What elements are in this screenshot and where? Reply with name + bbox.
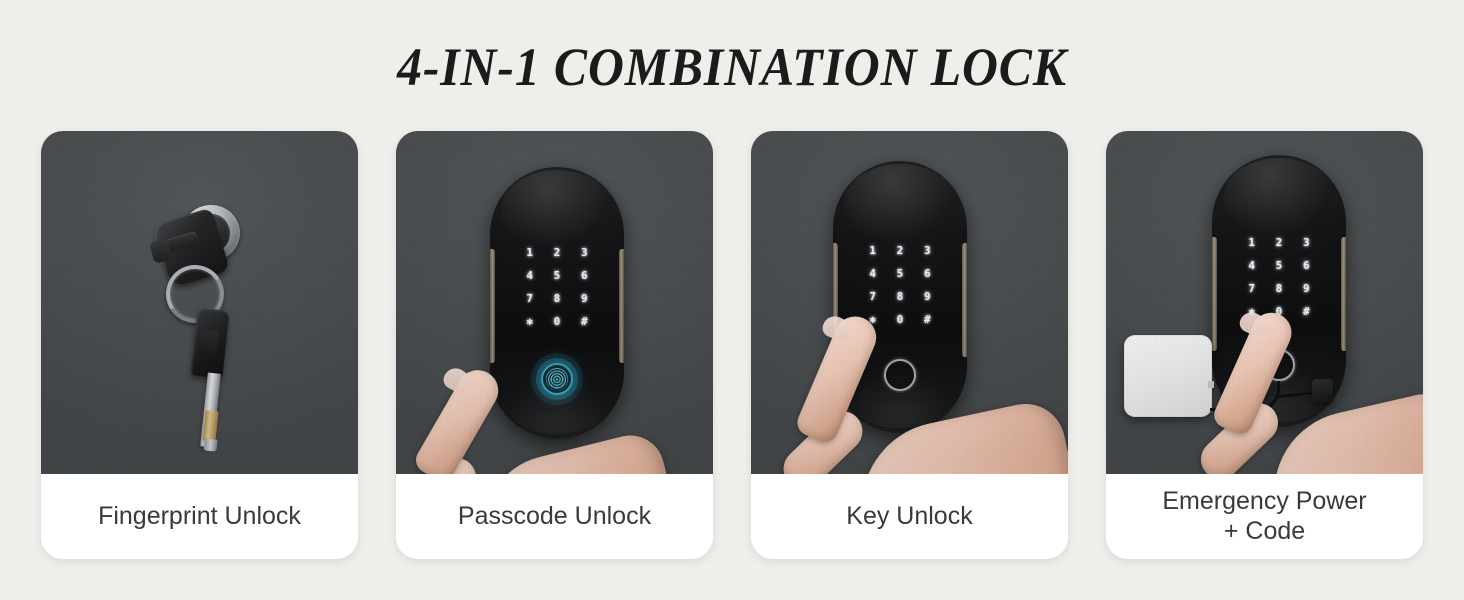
keypad-key-5[interactable]: 5 (543, 264, 570, 287)
keypad-key-0[interactable]: 0 (543, 310, 570, 333)
spare-key-head-icon (190, 308, 229, 379)
lock-keypad[interactable]: 1 2 3 4 5 6 7 8 9 ✱ 0 # (516, 241, 598, 333)
keypad-key-2[interactable]: 2 (543, 241, 570, 264)
keypad-key-3[interactable]: 3 (1293, 231, 1320, 254)
fingerprint-sensor-icon[interactable] (541, 363, 573, 395)
keypad-key-hash[interactable]: # (571, 310, 598, 333)
keypad-key-4[interactable]: 4 (516, 264, 543, 287)
feature-card-emergency-power-code[interactable]: 1 2 3 4 5 6 7 8 9 ✱ 0 # (1106, 131, 1423, 559)
card-photo-fingerprint-unlock (41, 131, 358, 474)
lock-keypad[interactable]: 1 2 3 4 5 6 7 8 9 ✱ 0 # (1238, 231, 1320, 323)
keypad-key-6[interactable]: 6 (1293, 254, 1320, 277)
keypad-key-3[interactable]: 3 (914, 239, 941, 262)
keypad-key-3[interactable]: 3 (571, 241, 598, 264)
keypad-key-2[interactable]: 2 (886, 239, 913, 262)
keypad-key-hash[interactable]: # (1293, 300, 1320, 323)
keypad-key-9[interactable]: 9 (571, 287, 598, 310)
keypad-key-2[interactable]: 2 (1265, 231, 1292, 254)
power-cable (1210, 381, 1280, 411)
card-photo-key-unlock: 1 2 3 4 5 6 7 8 9 ✱ 0 # (751, 131, 1068, 474)
smart-lock-body: 1 2 3 4 5 6 7 8 9 ✱ 0 # (490, 167, 624, 439)
keypad-key-star[interactable]: ✱ (859, 308, 886, 331)
keypad-key-9[interactable]: 9 (1293, 277, 1320, 300)
card-caption-passcode-unlock: Passcode Unlock (396, 474, 713, 559)
card-photo-passcode-unlock: 1 2 3 4 5 6 7 8 9 ✱ 0 # (396, 131, 713, 474)
keypad-key-7[interactable]: 7 (516, 287, 543, 310)
card-caption-emergency-power-code: Emergency Power + Code (1106, 474, 1423, 559)
feature-card-passcode-unlock[interactable]: 1 2 3 4 5 6 7 8 9 ✱ 0 # (396, 131, 713, 559)
fingernail (440, 364, 474, 396)
keypad-key-4[interactable]: 4 (1238, 254, 1265, 277)
emergency-power-bank (1124, 335, 1212, 417)
card-photo-emergency-power-code: 1 2 3 4 5 6 7 8 9 ✱ 0 # (1106, 131, 1423, 474)
fingerprint-ridges-icon (546, 368, 568, 390)
keypad-key-1[interactable]: 1 (859, 239, 886, 262)
keypad-key-5[interactable]: 5 (886, 262, 913, 285)
lock-bezel-right-icon (1341, 237, 1346, 351)
keypad-key-1[interactable]: 1 (516, 241, 543, 264)
keypad-key-0[interactable]: 0 (1265, 300, 1292, 323)
lock-bezel-right-icon (619, 249, 624, 363)
feature-card-row: Fingerprint Unlock 1 2 3 4 5 6 7 8 9 ✱ (41, 131, 1423, 559)
spare-key-tip-icon (203, 438, 217, 451)
keypad-key-1[interactable]: 1 (1238, 231, 1265, 254)
spare-key-bitting-icon (202, 410, 218, 441)
usb-plug-icon (1312, 379, 1333, 403)
keypad-key-hash[interactable]: # (914, 308, 941, 331)
keypad-key-9[interactable]: 9 (914, 285, 941, 308)
lock-bezel-left-icon (490, 249, 495, 363)
feature-card-key-unlock[interactable]: 1 2 3 4 5 6 7 8 9 ✱ 0 # (751, 131, 1068, 559)
keypad-key-0[interactable]: 0 (886, 308, 913, 331)
keypad-key-6[interactable]: 6 (914, 262, 941, 285)
keypad-key-6[interactable]: 6 (571, 264, 598, 287)
lock-bezel-right-icon (962, 243, 967, 357)
fingerprint-sensor-icon[interactable] (884, 359, 916, 391)
keypad-key-8[interactable]: 8 (1265, 277, 1292, 300)
hand-thumb (396, 450, 484, 474)
keypad-key-8[interactable]: 8 (543, 287, 570, 310)
keypad-key-5[interactable]: 5 (1265, 254, 1292, 277)
fingerprint-sensor-icon[interactable] (1263, 349, 1295, 381)
keypad-key-7[interactable]: 7 (859, 285, 886, 308)
feature-card-fingerprint-unlock[interactable]: Fingerprint Unlock (41, 131, 358, 559)
hand-palm (471, 428, 692, 474)
hand-wrist (1346, 473, 1423, 474)
lock-keypad[interactable]: 1 2 3 4 5 6 7 8 9 ✱ 0 # (859, 239, 941, 331)
keypad-key-8[interactable]: 8 (886, 285, 913, 308)
keypad-key-star[interactable]: ✱ (516, 310, 543, 333)
keypad-key-star[interactable]: ✱ (1238, 300, 1265, 323)
key-in-lock-illustration (140, 205, 260, 465)
lock-bezel-left-icon (1212, 237, 1217, 351)
card-caption-fingerprint-unlock: Fingerprint Unlock (41, 474, 358, 559)
smart-lock-body: 1 2 3 4 5 6 7 8 9 ✱ 0 # (833, 161, 967, 433)
keypad-key-4[interactable]: 4 (859, 262, 886, 285)
page-title: 4-IN-1 COMBINATION LOCK (59, 36, 1406, 98)
card-caption-key-unlock: Key Unlock (751, 474, 1068, 559)
keypad-key-7[interactable]: 7 (1238, 277, 1265, 300)
lock-bezel-left-icon (833, 243, 838, 357)
